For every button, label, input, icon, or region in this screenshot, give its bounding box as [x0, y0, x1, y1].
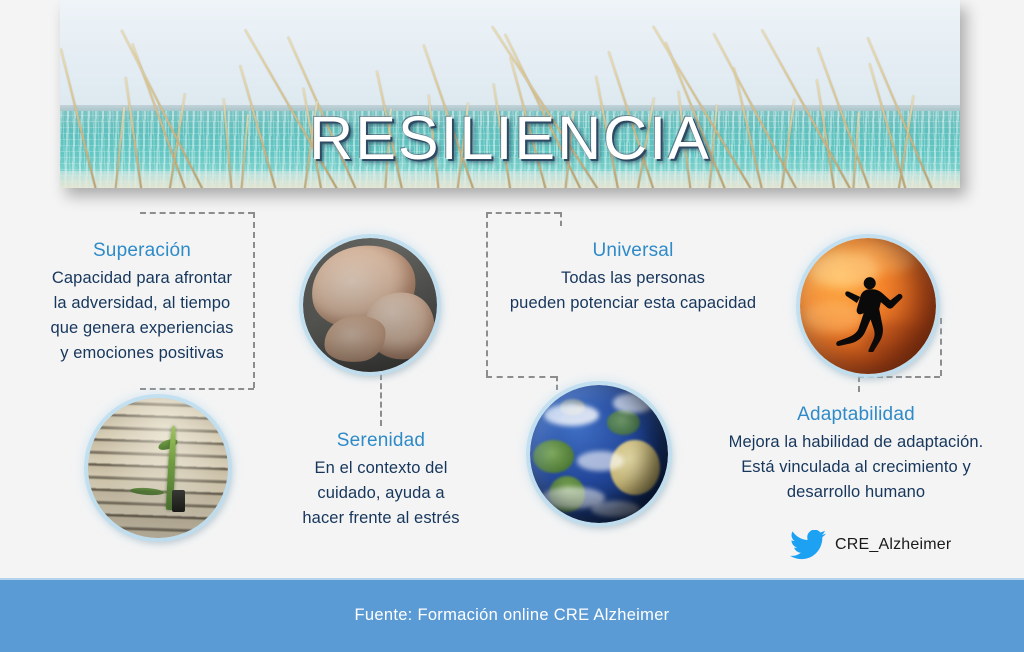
- image-seedling: [88, 398, 228, 538]
- twitter-bird-icon[interactable]: [790, 530, 826, 560]
- image-elderly-hands: [303, 238, 437, 372]
- block-universal: Universal Todas las personas pueden pote…: [490, 238, 776, 316]
- text-adaptabilidad-line-3: desarrollo humano: [706, 480, 1006, 505]
- text-adaptabilidad-line-2: Está vinculada al crecimiento y: [706, 455, 1006, 480]
- infographic-canvas: RESILIENCIA: [0, 0, 1024, 652]
- block-serenidad: Serenidad En el contexto del cuidado, ay…: [272, 428, 490, 531]
- footer-source-text: Fuente: Formación online CRE Alzheimer: [355, 606, 670, 625]
- banner-shore: [60, 171, 960, 188]
- text-superacion-line-2: la adversidad, al tiempo: [28, 291, 256, 316]
- heading-superacion: Superación: [28, 238, 256, 264]
- text-adaptabilidad-line-1: Mejora la habilidad de adaptación.: [706, 430, 1006, 455]
- dashed-connector-universal-stub: [556, 376, 558, 390]
- text-serenidad-line-1: En el contexto del: [272, 456, 490, 481]
- image-jumping-person: [800, 238, 936, 374]
- block-adaptabilidad: Adaptabilidad Mejora la habilidad de ada…: [706, 402, 1006, 505]
- banner-sky: [60, 0, 960, 107]
- dashed-connector-adaptabilidad-bottom: [858, 376, 940, 378]
- text-superacion-line-4: y emociones positivas: [28, 341, 256, 366]
- dashed-connector-universal-bottom: [486, 376, 556, 378]
- dashed-connector-universal-top: [486, 212, 560, 214]
- block-superacion: Superación Capacidad para afrontar la ad…: [28, 238, 256, 366]
- dashed-connector-superacion-bottom: [140, 388, 254, 390]
- image-earth-globe: [530, 385, 668, 523]
- page-title: RESILIENCIA: [60, 108, 960, 169]
- text-serenidad-line-3: hacer frente al estrés: [272, 506, 490, 531]
- footer-top-rule: [0, 578, 1024, 580]
- dashed-connector-serenidad: [380, 374, 382, 426]
- text-universal-line-2: pueden potenciar esta capacidad: [490, 291, 776, 316]
- header-banner: RESILIENCIA: [60, 0, 960, 188]
- dashed-connector-adaptabilidad-stub: [858, 376, 860, 392]
- text-serenidad-line-2: cuidado, ayuda a: [272, 481, 490, 506]
- heading-serenidad: Serenidad: [272, 428, 490, 454]
- dashed-connector-universal-topstub: [560, 212, 562, 226]
- text-universal-line-1: Todas las personas: [490, 266, 776, 291]
- text-superacion-line-1: Capacidad para afrontar: [28, 266, 256, 291]
- twitter-credit[interactable]: CRE_Alzheimer: [790, 530, 951, 560]
- heading-adaptabilidad: Adaptabilidad: [706, 402, 1006, 428]
- twitter-handle[interactable]: CRE_Alzheimer: [835, 536, 951, 554]
- dashed-connector-universal-left: [486, 212, 488, 376]
- heading-universal: Universal: [490, 238, 776, 264]
- footer-bar: Fuente: Formación online CRE Alzheimer: [0, 578, 1024, 652]
- text-superacion-line-3: que genera experiencias: [28, 316, 256, 341]
